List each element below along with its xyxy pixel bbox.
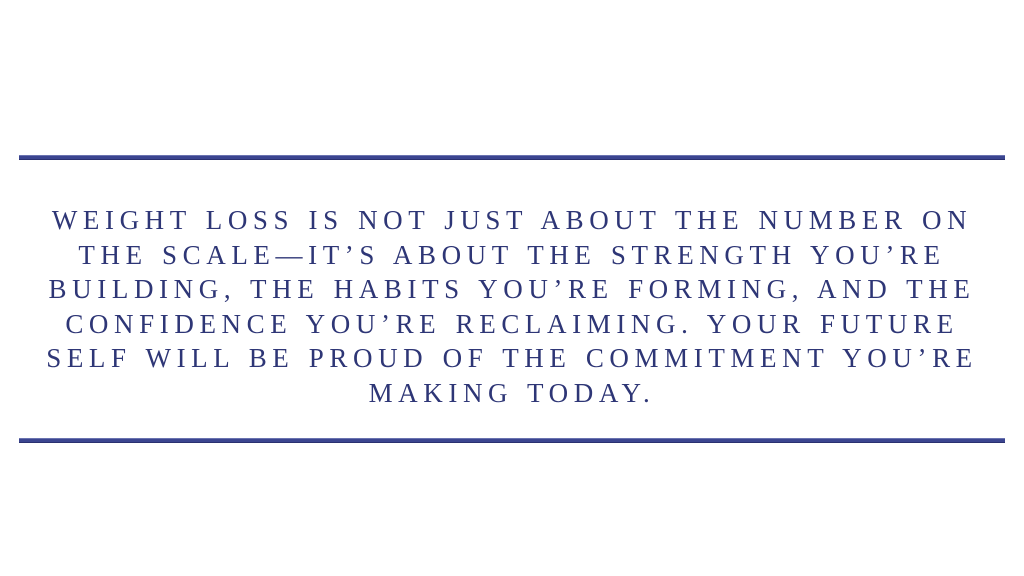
slide-canvas: Weight loss is not just about the number… [0, 0, 1024, 576]
quote-block: Weight loss is not just about the number… [19, 155, 1005, 443]
bottom-horizontal-rule [19, 438, 1005, 443]
quote-text: Weight loss is not just about the number… [19, 160, 1005, 438]
